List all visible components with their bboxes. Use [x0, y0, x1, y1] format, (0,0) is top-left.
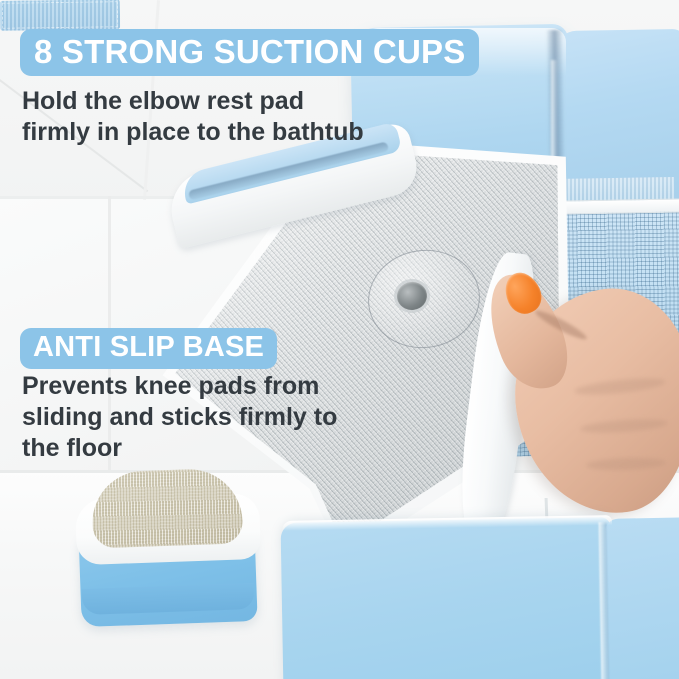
inset-beige-anti-slip-base — [91, 467, 244, 548]
pad-corner-inset — [72, 468, 272, 628]
velcro-strap — [0, 0, 120, 31]
feature-description-anti-slip-base: Prevents knee pads from sliding and stic… — [22, 371, 337, 464]
blue-knee-pad-right-section — [604, 517, 679, 679]
hand-holding-mat — [488, 268, 679, 528]
feature-badge-suction-cups: 8 STRONG SUCTION CUPS — [20, 29, 479, 76]
feature-description-suction-cups: Hold the elbow rest pad firmly in place … — [22, 86, 364, 148]
product-feature-image: 8 STRONG SUCTION CUPS Hold the elbow res… — [0, 0, 679, 679]
feature-badge-anti-slip-base: ANTI SLIP BASE — [20, 328, 277, 369]
blue-knee-pad-main — [280, 517, 613, 679]
